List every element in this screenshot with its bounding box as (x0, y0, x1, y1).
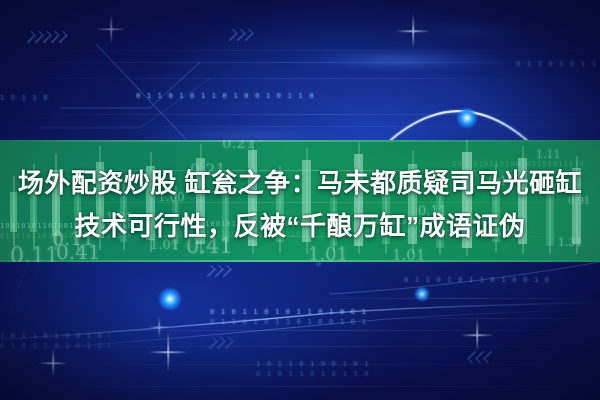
headline-line-1: 场外配资炒股 缸瓮之争：马未都质疑司马光砸缸 (0, 162, 600, 205)
band-top-edge (0, 140, 600, 142)
band-bottom-edge (0, 260, 600, 262)
banner-image: 0 1 1 0 1 0 1 1 0 1 0 0 1 0 1 1 0 1 0 1 … (0, 0, 600, 400)
headline: 场外配资炒股 缸瓮之争：马未都质疑司马光砸缸 技术可行性，反被“千酿万缸”成语证… (0, 162, 600, 248)
headline-line-2: 技术可行性，反被“千酿万缸”成语证伪 (0, 205, 600, 248)
